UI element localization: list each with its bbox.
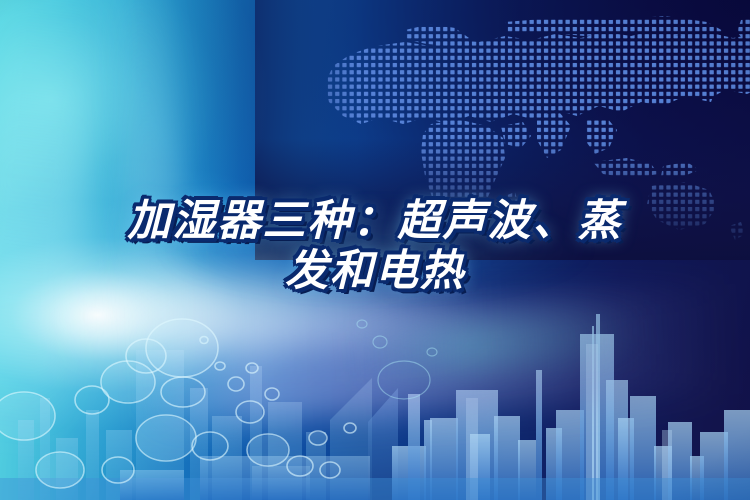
banner-canvas: 加湿器三种：超声波、蒸 发和电热 xyxy=(0,0,750,500)
vignette-overlay xyxy=(0,0,750,500)
